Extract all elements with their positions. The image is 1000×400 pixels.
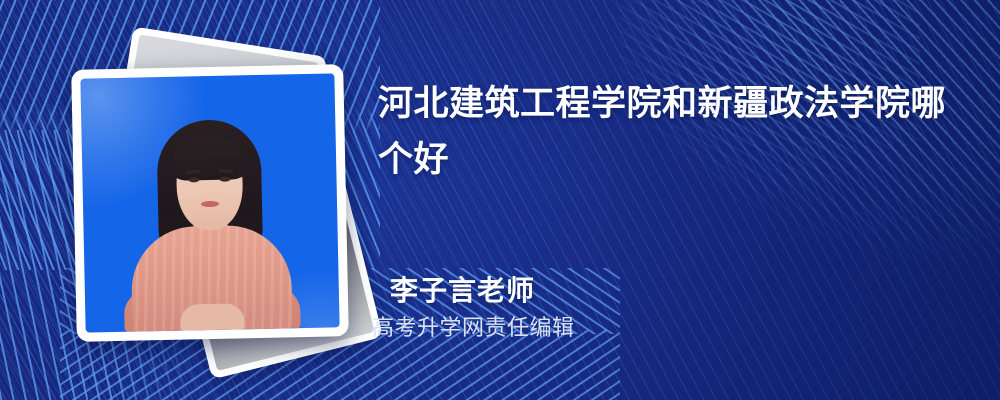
portrait-illustration [117,110,304,332]
author-role: 高考升学网责任编辑 [372,315,575,341]
portrait-hands [180,303,245,330]
photo-stack [58,40,358,360]
front-photo-card [71,64,349,342]
avatar [80,73,339,332]
author-name: 李子言老师 [390,274,575,308]
byline: 李子言老师 高考升学网责任编辑 [390,274,575,341]
article-cover-banner: 河北建筑工程学院和新疆政法学院哪个好 李子言老师 高考升学网责任编辑 [0,0,1000,400]
page-title: 河北建筑工程学院和新疆政法学院哪个好 [378,76,968,188]
headline-block: 河北建筑工程学院和新疆政法学院哪个好 [378,76,968,188]
